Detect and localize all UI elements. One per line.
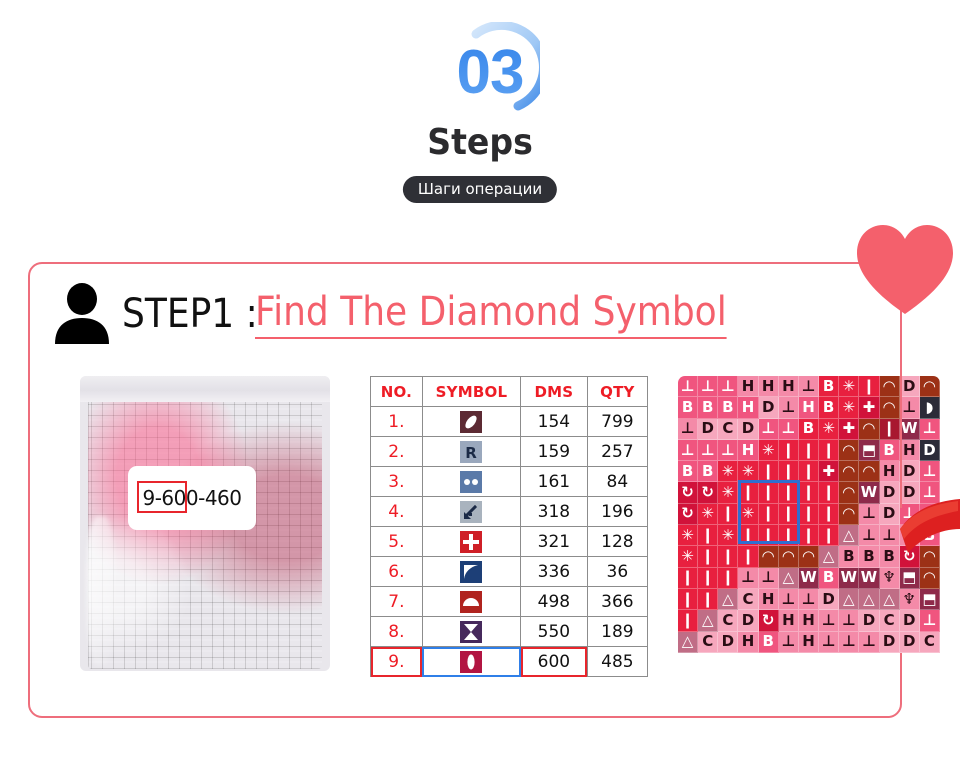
table-row: 1.154799 <box>371 407 648 437</box>
heart-icon <box>855 222 955 318</box>
bag-beads <box>88 394 322 669</box>
grid-cell: ⬒ <box>900 568 920 589</box>
grid-cell: ◠ <box>759 546 779 567</box>
grid-cell: ⊥ <box>779 589 799 610</box>
cell-symbol-plus-cross <box>422 527 520 557</box>
step1-card: STEP1 : Find The Diamond Symbol 9-600-46… <box>28 262 902 718</box>
grid-cell: H <box>779 376 799 397</box>
grid-cell: ❙ <box>819 525 839 546</box>
grid-cell: ⬒ <box>859 440 879 461</box>
grid-cell: B <box>698 397 718 418</box>
grid-cell: ❙ <box>799 482 819 503</box>
half-dome-icon <box>460 591 482 613</box>
grid-cell: H <box>738 632 758 653</box>
grid-cell: ⊥ <box>859 525 879 546</box>
cell-symbol-two-dots <box>422 467 520 497</box>
cell-qty: 257 <box>587 437 647 467</box>
grid-cell: ⊥ <box>698 376 718 397</box>
grid-cell: ♆ <box>880 568 900 589</box>
table-row: 3.16184 <box>371 467 648 497</box>
grid-cell: W <box>799 568 819 589</box>
grid-cell: ✳ <box>718 482 738 503</box>
grid-cell: ↻ <box>678 482 698 503</box>
grid-cell: ❙ <box>759 482 779 503</box>
grid-cell: ❙ <box>779 504 799 525</box>
grid-cell: ⊥ <box>718 440 738 461</box>
cell-no: 2. <box>371 437 423 467</box>
grid-cell: ⊥ <box>759 568 779 589</box>
cell-qty: 189 <box>587 617 647 647</box>
grid-cell: H <box>738 376 758 397</box>
grid-cell: ◠ <box>920 376 940 397</box>
grid-cell: B <box>859 546 879 567</box>
grid-cell: ◠ <box>839 440 859 461</box>
grid-cell: D <box>819 589 839 610</box>
grid-cell: △ <box>859 589 879 610</box>
grid-cell: ✳ <box>759 440 779 461</box>
grid-cell: ⊥ <box>839 610 859 631</box>
grid-cell: △ <box>880 589 900 610</box>
grid-cell: ⊥ <box>779 632 799 653</box>
grid-cell: B <box>839 546 859 567</box>
grid-cell: ⊥ <box>900 397 920 418</box>
grid-cell: B <box>698 461 718 482</box>
grid-cell: B <box>819 397 839 418</box>
grid-cell: △ <box>718 589 738 610</box>
grid-cell: D <box>859 610 879 631</box>
grid-cell: ⊥ <box>859 632 879 653</box>
cell-symbol-letter-R: R <box>422 437 520 467</box>
grid-cell: △ <box>839 525 859 546</box>
step-number: 03 <box>430 22 540 122</box>
grid-cell: D <box>900 610 920 631</box>
grid-cell: ❙ <box>678 568 698 589</box>
cell-dms: 550 <box>521 617 588 647</box>
col-dms: DMS <box>521 377 588 407</box>
cell-dms: 154 <box>521 407 588 437</box>
cell-dms: 600 <box>521 647 588 677</box>
grid-cell: ❙ <box>759 461 779 482</box>
grid-cell: ⊥ <box>738 568 758 589</box>
grid-cell: ◠ <box>880 376 900 397</box>
grid-cell: H <box>759 589 779 610</box>
grid-cell: ✳ <box>839 376 859 397</box>
grid-cell: ⊥ <box>678 376 698 397</box>
grid-cell: ✳ <box>839 397 859 418</box>
two-dots-icon <box>460 471 482 493</box>
plus-cross-icon <box>460 531 482 553</box>
grid-cell: H <box>759 376 779 397</box>
grid-cell: ✳ <box>738 461 758 482</box>
cell-no: 1. <box>371 407 423 437</box>
grid-cell: B <box>819 568 839 589</box>
grid-cell: ❙ <box>738 482 758 503</box>
table-row: 7.498366 <box>371 587 648 617</box>
step-number-badge: 03 <box>430 22 540 122</box>
grid-cell: D <box>880 504 900 525</box>
grid-cell: C <box>718 610 738 631</box>
cell-qty: 485 <box>587 647 647 677</box>
table-row: 9.600485 <box>371 647 648 677</box>
grid-cell: D <box>698 419 718 440</box>
grid-cell: ⬒ <box>920 589 940 610</box>
grid-cell: ◠ <box>920 568 940 589</box>
grid-cell: ⊥ <box>678 440 698 461</box>
grid-cell: ❙ <box>799 504 819 525</box>
grid-cell: ❙ <box>779 440 799 461</box>
grid-cell: ⊥ <box>880 525 900 546</box>
grid-cell: ❙ <box>678 589 698 610</box>
panels-row: 9-600-460 NO. SYMBOL DMS QTY 1.1547992.R… <box>50 376 890 686</box>
grid-cell: ❙ <box>759 525 779 546</box>
grid-cell: H <box>738 397 758 418</box>
table-row: 2.R159257 <box>371 437 648 467</box>
cell-no: 9. <box>371 647 423 677</box>
table-body: 1.1547992.R1592573.161844.3181965.321128… <box>371 407 648 677</box>
grid-cell: C <box>880 610 900 631</box>
grid-cell: ✳ <box>738 504 758 525</box>
grid-cell: ❙ <box>880 419 900 440</box>
letter-R-icon: R <box>460 441 482 463</box>
cell-dms: 321 <box>521 527 588 557</box>
grid-cell: ✳ <box>819 419 839 440</box>
grid-cell: ◠ <box>799 546 819 567</box>
grid-cell: ❙ <box>698 546 718 567</box>
grid-cell: ⊥ <box>698 440 718 461</box>
grid-cell: ❙ <box>718 546 738 567</box>
grid-cell: H <box>738 440 758 461</box>
grid-cell: ✚ <box>859 397 879 418</box>
table-row: 8.550189 <box>371 617 648 647</box>
diamond-bag-photo: 9-600-460 <box>80 376 330 671</box>
grid-cell: ❙ <box>678 610 698 631</box>
table-row: 6.33636 <box>371 557 648 587</box>
grid-cell: ⊥ <box>678 419 698 440</box>
grid-cell: ◗ <box>920 397 940 418</box>
grid-cell: D <box>718 632 738 653</box>
grid-cell: B <box>799 419 819 440</box>
grid-cell: ◠ <box>779 546 799 567</box>
grid-cell: ❙ <box>738 525 758 546</box>
grid-cell: ◠ <box>839 504 859 525</box>
step-heading: STEP1 : Find The Diamond Symbol <box>122 286 779 342</box>
grid-cell: ↻ <box>759 610 779 631</box>
grid-cell: ❙ <box>718 504 738 525</box>
grid-cell: ↻ <box>678 504 698 525</box>
cell-symbol-slash-oval <box>422 407 520 437</box>
col-qty: QTY <box>587 377 647 407</box>
grid-cell: W <box>839 568 859 589</box>
grid-cell: ✳ <box>678 525 698 546</box>
cell-symbol-arrow-sw <box>422 497 520 527</box>
bag: 9-600-460 <box>80 376 330 671</box>
grid-cell: ⊥ <box>819 632 839 653</box>
grid-cell: B <box>819 376 839 397</box>
cell-no: 7. <box>371 587 423 617</box>
table-row: 5.321128 <box>371 527 648 557</box>
cell-no: 6. <box>371 557 423 587</box>
cell-dms: 498 <box>521 587 588 617</box>
cell-qty: 128 <box>587 527 647 557</box>
grid-cell: ❙ <box>799 461 819 482</box>
grid-cell: H <box>880 461 900 482</box>
ribbon-icon <box>900 495 960 555</box>
cell-qty: 84 <box>587 467 647 497</box>
grid-cell: ❙ <box>779 482 799 503</box>
cell-qty: 799 <box>587 407 647 437</box>
bag-gloss <box>86 516 116 666</box>
grid-cell: ⊥ <box>779 419 799 440</box>
grid-cell: ❙ <box>698 525 718 546</box>
grid-cell: ✳ <box>698 504 718 525</box>
grid-cell: W <box>859 568 879 589</box>
grid-cell: B <box>759 632 779 653</box>
grid-cell: ✚ <box>819 461 839 482</box>
grid-cell: D <box>900 632 920 653</box>
table-header-row: NO. SYMBOL DMS QTY <box>371 377 648 407</box>
grid-cell: ◠ <box>880 397 900 418</box>
grid-cell: ✚ <box>839 419 859 440</box>
grid-cell: ✳ <box>718 525 738 546</box>
grid-cell: ❙ <box>799 525 819 546</box>
grid-cell: D <box>759 397 779 418</box>
grid-cell: C <box>698 632 718 653</box>
step-label: STEP1 : <box>122 291 258 337</box>
steps-subtitle-badge: Шаги операции <box>403 176 557 203</box>
grid-cell: H <box>900 440 920 461</box>
grid-cell: C <box>738 589 758 610</box>
grid-cell: △ <box>839 589 859 610</box>
bag-zipper <box>80 376 330 402</box>
slash-oval-icon <box>460 411 482 433</box>
grid-cell: H <box>799 610 819 631</box>
grid-cell: ⊥ <box>759 419 779 440</box>
table-row: 4.318196 <box>371 497 648 527</box>
grid-cell: ⊥ <box>799 589 819 610</box>
grid-cell: ⊥ <box>718 376 738 397</box>
cell-symbol-vertical-oval <box>422 647 520 677</box>
person-icon <box>52 282 112 344</box>
grid-cell: B <box>678 397 698 418</box>
arrow-sw-icon <box>460 501 482 523</box>
grid-cell: ✳ <box>678 546 698 567</box>
col-no: NO. <box>371 377 423 407</box>
grid-cell: ⊥ <box>839 632 859 653</box>
quarter-leaf-icon <box>460 561 482 583</box>
grid-cell: C <box>718 419 738 440</box>
cell-qty: 196 <box>587 497 647 527</box>
cell-dms: 336 <box>521 557 588 587</box>
grid-cell: ❙ <box>799 440 819 461</box>
symbol-table: NO. SYMBOL DMS QTY 1.1547992.R1592573.16… <box>370 376 648 677</box>
grid-cell: ◠ <box>839 482 859 503</box>
cell-no: 4. <box>371 497 423 527</box>
cell-dms: 161 <box>521 467 588 497</box>
grid-cell: D <box>738 419 758 440</box>
grid-cell: ❙ <box>759 504 779 525</box>
grid-cell: D <box>880 632 900 653</box>
cell-symbol-hourglass <box>422 617 520 647</box>
hourglass-icon <box>460 621 482 643</box>
col-symbol: SYMBOL <box>422 377 520 407</box>
grid-cell: ⊥ <box>920 461 940 482</box>
grid-cell: △ <box>779 568 799 589</box>
svg-text:R: R <box>466 444 478 462</box>
grid-cell: ✳ <box>718 461 738 482</box>
grid-cell: ❙ <box>738 546 758 567</box>
grid-cell: W <box>859 482 879 503</box>
grid-cell: ❙ <box>819 440 839 461</box>
vertical-oval-icon <box>460 651 482 673</box>
grid-cell: △ <box>698 610 718 631</box>
grid-cell: B <box>718 397 738 418</box>
cell-dms: 159 <box>521 437 588 467</box>
grid-cell: ❙ <box>698 589 718 610</box>
grid-cell: H <box>799 632 819 653</box>
grid-cell: ♆ <box>900 589 920 610</box>
grid-cell: W <box>900 419 920 440</box>
cell-symbol-quarter-leaf <box>422 557 520 587</box>
grid-cell: H <box>779 610 799 631</box>
grid-cell: D <box>738 610 758 631</box>
cell-qty: 366 <box>587 587 647 617</box>
grid-cell: C <box>920 632 940 653</box>
grid-cell: ◠ <box>859 461 879 482</box>
grid-cell: B <box>880 546 900 567</box>
cell-no: 5. <box>371 527 423 557</box>
step-value: Find The Diamond Symbol <box>255 289 727 339</box>
cell-qty: 36 <box>587 557 647 587</box>
grid-cell: ⊥ <box>920 610 940 631</box>
grid-cell: ❙ <box>779 525 799 546</box>
grid-cell: D <box>900 461 920 482</box>
grid-cell: ❙ <box>819 504 839 525</box>
grid-cell: ❙ <box>779 461 799 482</box>
grid-cell: ◠ <box>839 461 859 482</box>
grid-cell: ❙ <box>718 568 738 589</box>
grid-cell: D <box>920 440 940 461</box>
page-header: 03 Steps Шаги операции <box>0 0 960 215</box>
grid-cell: ◠ <box>859 419 879 440</box>
grid-cell: ❙ <box>819 482 839 503</box>
grid-cell: ⊥ <box>859 504 879 525</box>
grid-cell: ⊥ <box>920 419 940 440</box>
grid-cell: ⊥ <box>779 397 799 418</box>
grid-cell: △ <box>678 632 698 653</box>
grid-cell: ↻ <box>698 482 718 503</box>
grid-cell: H <box>799 397 819 418</box>
cell-symbol-half-dome <box>422 587 520 617</box>
cell-no: 8. <box>371 617 423 647</box>
grid-cell: ❙ <box>859 376 879 397</box>
steps-title: Steps <box>38 122 921 163</box>
grid-cell: ❙ <box>698 568 718 589</box>
grid-cell: B <box>880 440 900 461</box>
bag-label-highlight-box <box>137 481 187 513</box>
cell-dms: 318 <box>521 497 588 527</box>
cell-no: 3. <box>371 467 423 497</box>
grid-cell: B <box>678 461 698 482</box>
grid-cell: ⊥ <box>799 376 819 397</box>
symbol-table-panel: NO. SYMBOL DMS QTY 1.1547992.R1592573.16… <box>370 376 648 677</box>
grid-cell: D <box>900 376 920 397</box>
grid-cell: △ <box>819 546 839 567</box>
grid-cell: ⊥ <box>819 610 839 631</box>
grid-cell: D <box>880 482 900 503</box>
